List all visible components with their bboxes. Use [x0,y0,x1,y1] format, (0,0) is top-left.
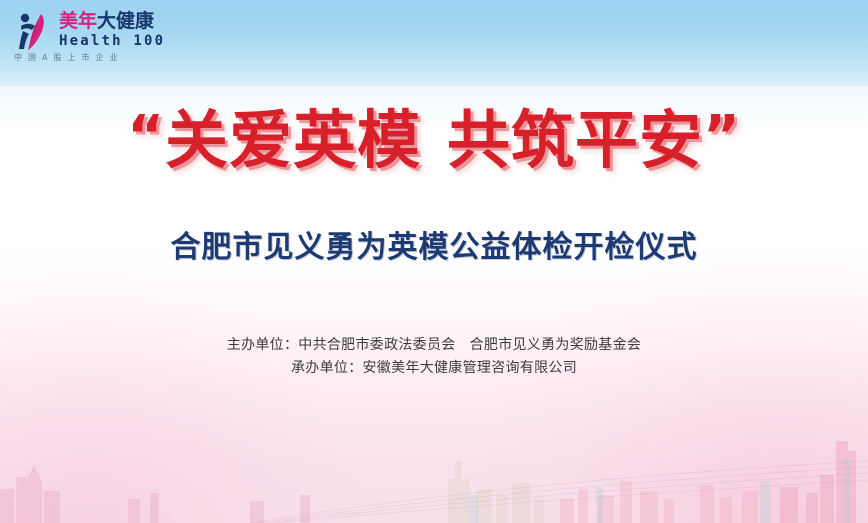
skyline-back-layer [0,465,310,523]
skyline-sweep-lines [250,461,868,523]
pink-glow-right [468,263,868,523]
pink-glow-left [0,273,360,523]
open-quote-mark: “ [127,104,165,169]
credit-host-label: 主办单位： [227,337,299,353]
logo-chinese-name: 美年大健康 [59,12,165,31]
event-poster: 美年大健康 Health 100 中国A股上市企业 “关爱英模共筑平安” 合肥市… [0,0,868,523]
city-skyline-graphic [0,403,868,523]
credit-organizer-org-1: 安徽美年大健康管理咨询有限公司 [363,360,578,376]
headline-part-1: 关爱英模 [165,104,421,177]
logo-tagline: 中国A股上市企业 [14,52,123,63]
logo-cn-primary: 美年 [59,10,97,32]
organizer-credits: 主办单位：中共合肥市委政法委员会合肥市见义勇为奖励基金会 承办单位：安徽美年大健… [0,334,868,380]
credit-line-host: 主办单位：中共合肥市委政法委员会合肥市见义勇为奖励基金会 [0,334,868,357]
poster-headline: “关爱英模共筑平安” [0,108,868,174]
poster-subtitle: 合肥市见义勇为英模公益体检开检仪式 [0,222,868,266]
logo-wordmark: 美年大健康 Health 100 [59,10,165,48]
running-figure-logo-icon [12,10,54,52]
logo-cn-secondary: 大健康 [97,10,154,32]
skyline-mid-left [448,461,544,523]
skyline-mid-right [780,441,856,523]
close-quote-mark: ” [703,104,741,169]
skyline-teal-accents [470,459,850,523]
credit-line-organizer: 承办单位：安徽美年大健康管理咨询有限公司 [0,357,868,380]
credit-host-org-2: 合肥市见义勇为奖励基金会 [470,337,642,353]
headline-part-2: 共筑平安 [447,104,703,177]
credit-host-org-1: 中共合肥市委政法委员会 [298,337,455,353]
skyline-svg [0,403,868,523]
logo-english-name: Health 100 [59,34,165,48]
skyline-front-right [560,481,758,523]
running-figure-svg [12,10,54,52]
credit-organizer-label: 承办单位： [291,360,363,376]
brand-logo: 美年大健康 Health 100 [12,10,165,52]
